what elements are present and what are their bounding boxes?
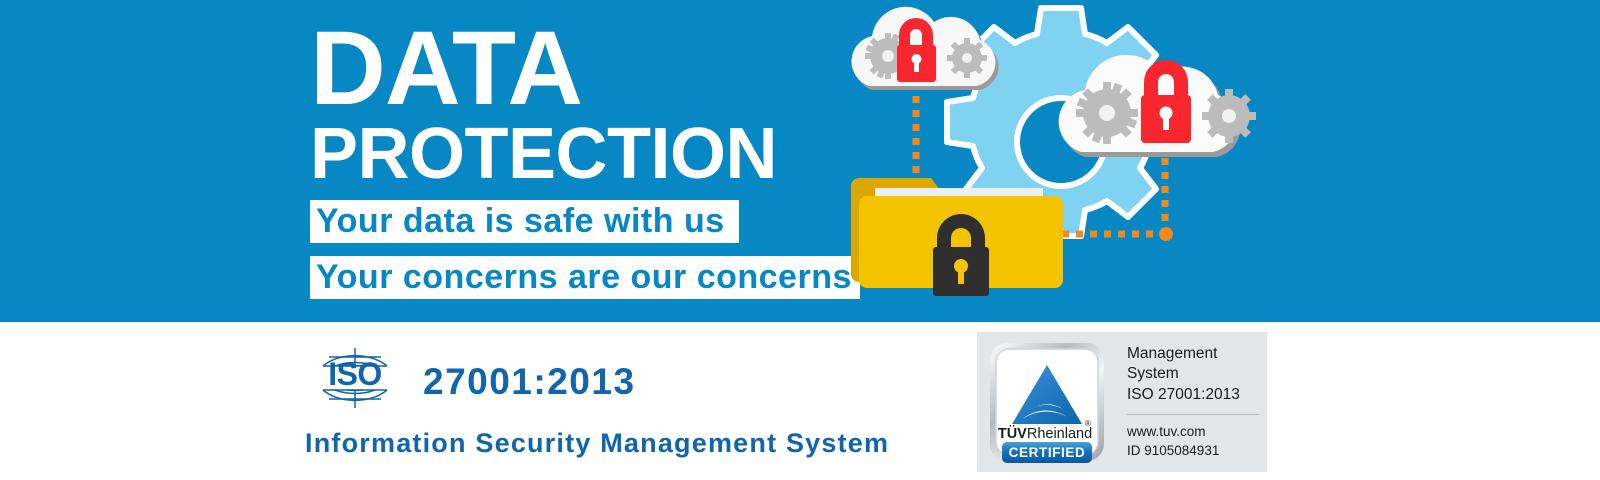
folder-lock-icon <box>851 178 1063 296</box>
page-title: DATA <box>310 18 870 120</box>
tagline-primary: Your data is safe with us <box>310 200 739 243</box>
tuv-line-3: ISO 27001:2013 <box>1127 385 1259 405</box>
tuv-rheinland-badge[interactable]: TÜVRheinland ® CERTIFIED Management Syst… <box>977 332 1267 472</box>
tuv-divider <box>1127 414 1259 415</box>
svg-text:TÜVRheinland: TÜVRheinland <box>998 425 1092 442</box>
page-subtitle: PROTECTION <box>310 120 870 188</box>
headline-block: DATA PROTECTION Your data is safe with u… <box>310 18 870 299</box>
iso-certification-lockup: ISO 27001:2013 Information Security Mana… <box>305 344 915 459</box>
tuv-text-panel: Management System ISO 27001:2013 www.tuv… <box>1117 332 1267 472</box>
cloud-lock-icon-top <box>851 7 998 90</box>
svg-text:®: ® <box>1085 419 1091 428</box>
gear-icon-medium-left <box>1076 82 1138 144</box>
tuv-line-1: Management <box>1127 344 1259 364</box>
tagline-secondary: Your concerns are our concerns <box>310 256 860 299</box>
tuv-website[interactable]: www.tuv.com <box>1127 423 1259 441</box>
tuv-id: ID 9105084931 <box>1127 442 1259 460</box>
padlock-icon-red-right <box>1141 60 1191 143</box>
connector-node-dot <box>1159 227 1173 241</box>
tuv-seal-icon: TÜVRheinland ® CERTIFIED <box>977 332 1117 472</box>
iso-logo-icon: ISO <box>305 342 405 419</box>
gear-icon-medium-right <box>1202 89 1256 143</box>
data-protection-banner: DATA PROTECTION Your data is safe with u… <box>0 0 1600 480</box>
iso-caption: Information Security Management System <box>305 428 915 459</box>
tuv-line-2: System <box>1127 364 1259 384</box>
tagline-group: Your data is safe with us Your concerns … <box>310 200 870 299</box>
security-illustration <box>845 0 1265 322</box>
certification-strip: ISO 27001:2013 Information Security Mana… <box>0 322 1600 480</box>
padlock-icon-red-top <box>897 18 936 82</box>
iso-standard-number: 27001:2013 <box>423 361 636 400</box>
svg-text:CERTIFIED: CERTIFIED <box>1009 445 1086 460</box>
gear-icon-small-right <box>947 38 987 78</box>
hero-section: DATA PROTECTION Your data is safe with u… <box>0 0 1600 322</box>
svg-text:ISO: ISO <box>328 356 382 392</box>
